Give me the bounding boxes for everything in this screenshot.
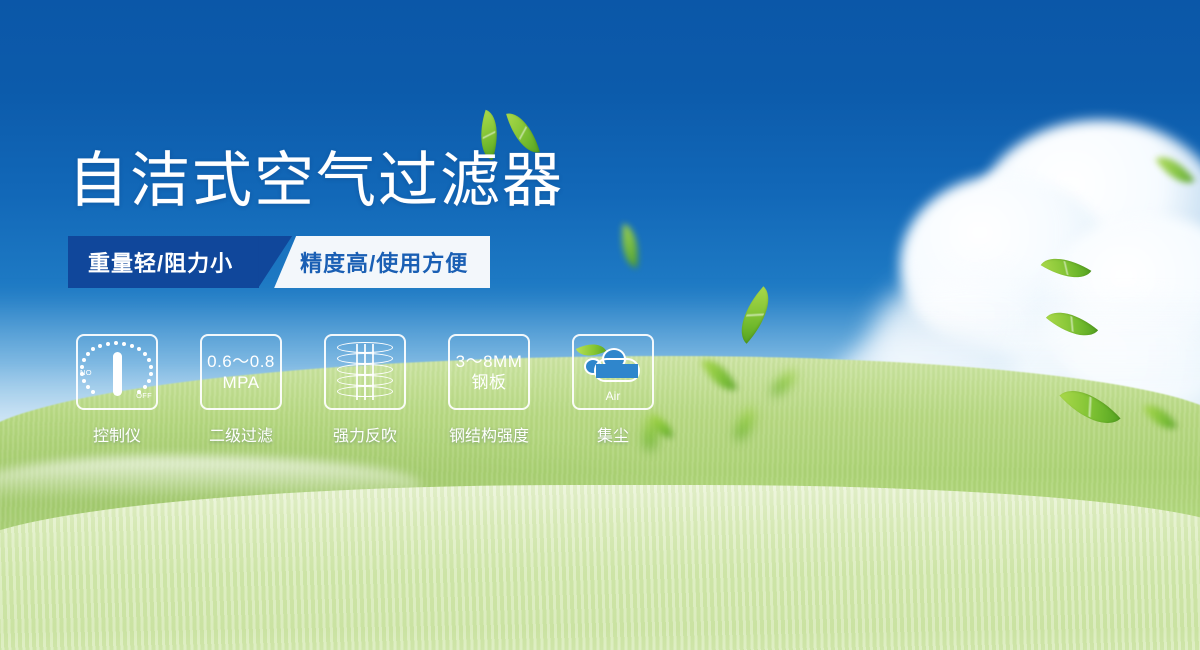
feature-text-line2: 钢板 [456,372,523,393]
feature-caption: 钢结构强度 [449,422,529,446]
feature-caption: 强力反吹 [333,422,397,446]
gauge-label-no: NO [80,368,92,377]
coil-blowback-icon [337,342,393,402]
air-label: Air [582,389,644,403]
page-title: 自洁式空气过滤器 [68,146,564,216]
feature-icon-box: 0.6〜0.8 MPA [200,334,282,410]
gauge-dial-icon: NO OFF [81,339,153,405]
feature-icon-box: NO OFF [76,334,158,410]
gauge-label-off: OFF [136,391,152,400]
feature-list: NO OFF 控制仪 0.6〜0.8 MPA 二级过滤 [68,334,662,446]
feature-text-line1: 0.6〜0.8 [207,352,275,371]
steel-plate-text-icon: 3〜8MM 钢板 [456,351,523,393]
subtitle-right: 精度高/使用方便 [274,236,490,288]
feature-caption: 集尘 [597,422,629,446]
feature-item-dust[interactable]: Air 集尘 [564,334,662,446]
air-cloud-icon: Air [582,344,644,400]
feature-icon-box: 3〜8MM 钢板 [448,334,530,410]
subtitle-row: 重量轻/阻力小 精度高/使用方便 [68,236,490,288]
feature-item-filter[interactable]: 0.6〜0.8 MPA 二级过滤 [192,334,290,446]
feature-item-steel[interactable]: 3〜8MM 钢板 钢结构强度 [440,334,538,446]
feature-text-line2: MPA [207,372,275,393]
subtitle-left: 重量轻/阻力小 [68,236,259,288]
feature-icon-box: Air [572,334,654,410]
pressure-text-icon: 0.6〜0.8 MPA [207,351,275,393]
feature-caption: 控制仪 [93,422,141,446]
feature-caption: 二级过滤 [209,422,273,446]
feature-item-blowback[interactable]: 强力反吹 [316,334,414,446]
banner-stage: 自洁式空气过滤器 重量轻/阻力小 精度高/使用方便 [0,0,1200,650]
feature-icon-box [324,334,406,410]
gauge-needle [113,352,122,396]
grass-field-front [0,485,1200,650]
feature-item-controller[interactable]: NO OFF 控制仪 [68,334,166,446]
feature-text-line1: 3〜8MM [456,352,523,371]
